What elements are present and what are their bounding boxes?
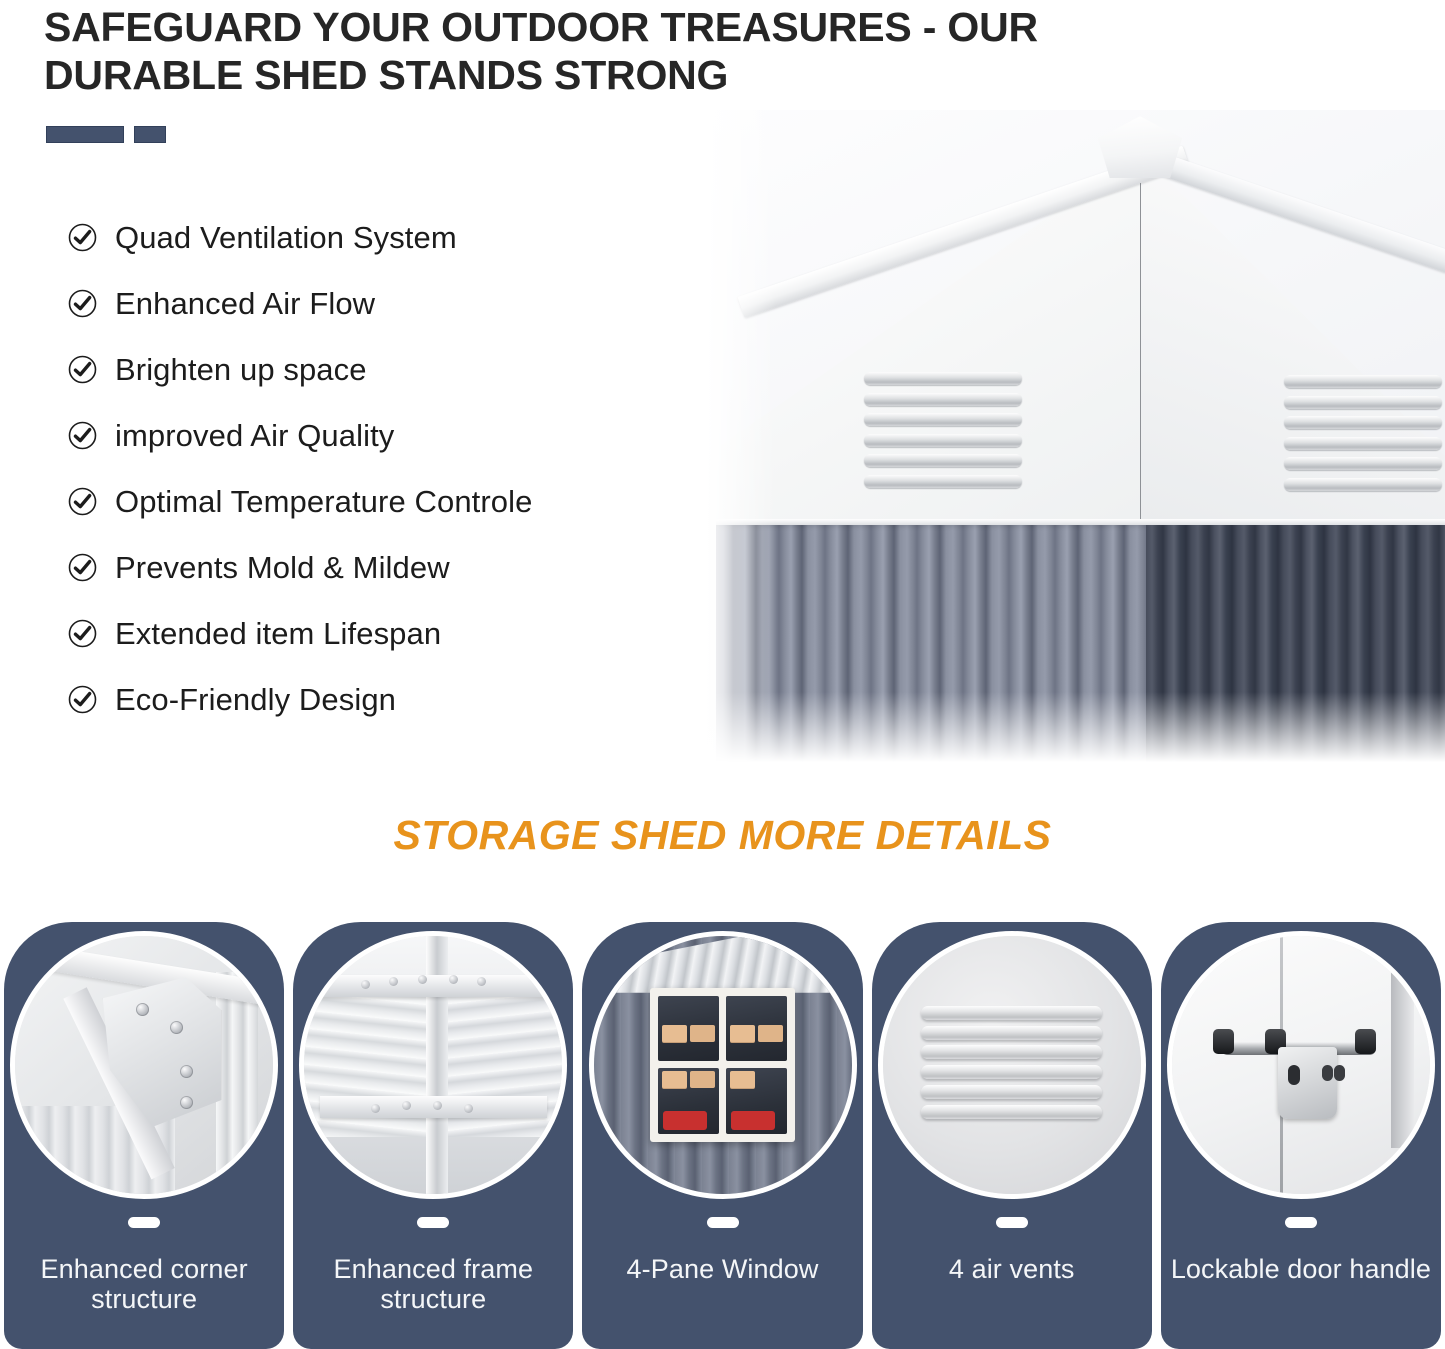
accent-bar-group [46, 126, 166, 143]
check-circle-icon [68, 685, 97, 714]
list-item: Quad Ventilation System [68, 204, 708, 270]
detail-card-lockable-handle[interactable]: Lockable door handle [1161, 922, 1441, 1349]
vent-slat [1284, 416, 1442, 429]
feature-label: Prevents Mold & Mildew [115, 552, 450, 583]
product-infographic-page: SAFEGUARD YOUR OUTDOOR TREASURES - OUR D… [0, 0, 1445, 1349]
vent-slat [1284, 437, 1442, 450]
detail-card-corner-structure[interactable]: Enhanced corner structure [4, 922, 284, 1349]
detail-card-air-vents[interactable]: 4 air vents [872, 922, 1152, 1349]
card-label: 4-Pane Window [592, 1254, 852, 1284]
detail-card-frame-structure[interactable]: Enhanced frame structure [293, 922, 573, 1349]
corner-bracket-photo [10, 931, 278, 1199]
check-circle-icon [68, 223, 97, 252]
list-item: Brighten up space [68, 336, 708, 402]
feature-label: Enhanced Air Flow [115, 288, 375, 319]
check-circle-icon [68, 421, 97, 450]
card-divider [417, 1217, 449, 1228]
vent-slat [921, 1045, 1102, 1059]
card-divider [707, 1217, 739, 1228]
check-circle-icon [68, 553, 97, 582]
vent-slat [1284, 396, 1442, 409]
check-circle-icon [68, 619, 97, 648]
list-item: Enhanced Air Flow [68, 270, 708, 336]
section-heading: STORAGE SHED MORE DETAILS [0, 812, 1445, 859]
vent-slat [864, 413, 1022, 426]
list-item: Prevents Mold & Mildew [68, 534, 708, 600]
list-item: Optimal Temperature Controle [68, 468, 708, 534]
card-divider [128, 1217, 160, 1228]
four-pane-window-photo [589, 931, 857, 1199]
vent-slat [1284, 478, 1442, 491]
vent-slat [864, 454, 1022, 467]
feature-label: Extended item Lifespan [115, 618, 441, 649]
vent-slat [921, 1026, 1102, 1040]
card-label: Lockable door handle [1171, 1254, 1431, 1284]
detail-card-row: Enhanced corner structure [0, 922, 1445, 1349]
vent-slat [1284, 457, 1442, 470]
hero-section: SAFEGUARD YOUR OUTDOOR TREASURES - OUR D… [0, 0, 1445, 800]
feature-label: improved Air Quality [115, 420, 394, 451]
vent-slat [921, 1006, 1102, 1020]
card-label: Enhanced corner structure [14, 1254, 274, 1314]
detail-card-four-pane-window[interactable]: 4-Pane Window [582, 922, 862, 1349]
card-label: 4 air vents [882, 1254, 1142, 1284]
feature-list: Quad Ventilation System Enhanced Air Flo… [68, 204, 708, 732]
check-circle-icon [68, 355, 97, 384]
wall-air-vent-left [864, 370, 1022, 490]
wall-air-vent-right [1284, 373, 1442, 493]
card-label: Enhanced frame structure [303, 1254, 563, 1314]
vent-slat [1284, 375, 1442, 388]
feature-label: Quad Ventilation System [115, 222, 457, 253]
card-divider [996, 1217, 1028, 1228]
check-circle-icon [68, 289, 97, 318]
vent-slat [864, 434, 1022, 447]
gable-center-seam [1140, 168, 1141, 552]
list-item: Eco-Friendly Design [68, 666, 708, 732]
vent-slat [864, 475, 1022, 488]
feature-label: Optimal Temperature Controle [115, 486, 532, 517]
vent-slat [921, 1105, 1102, 1119]
vent-slat [864, 393, 1022, 406]
page-title: SAFEGUARD YOUR OUTDOOR TREASURES - OUR D… [44, 4, 1224, 100]
card-divider [1285, 1217, 1317, 1228]
lockable-handle-photo [1167, 931, 1435, 1199]
vent-slat [921, 1065, 1102, 1079]
photo-left-fade [706, 110, 776, 782]
check-circle-icon [68, 487, 97, 516]
accent-bar-short [134, 126, 166, 143]
vent-slat [864, 372, 1022, 385]
feature-label: Eco-Friendly Design [115, 684, 396, 715]
accent-bar-long [46, 126, 124, 143]
photo-bottom-fade [706, 692, 1445, 782]
feature-label: Brighten up space [115, 354, 367, 385]
list-item: Extended item Lifespan [68, 600, 708, 666]
list-item: improved Air Quality [68, 402, 708, 468]
storage-shed-gable-with-vents-photo [706, 110, 1445, 782]
air-vent-photo [878, 931, 1146, 1199]
vent-slat [921, 1085, 1102, 1099]
frame-structure-photo [299, 931, 567, 1199]
